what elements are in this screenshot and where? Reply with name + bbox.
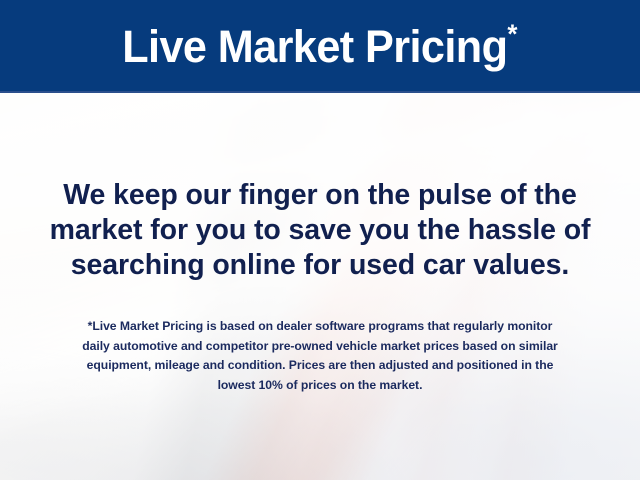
header-band: Live Market Pricing* (0, 0, 640, 93)
disclaimer-block: *Live Market Pricing is based on dealer … (0, 317, 640, 395)
disclaimer-line: daily automotive and competitor pre-owne… (0, 337, 640, 357)
page-title: Live Market Pricing* (122, 21, 517, 72)
disclaimer-line: equipment, mileage and condition. Prices… (0, 356, 640, 376)
disclaimer-line: lowest 10% of prices on the market. (0, 376, 640, 396)
live-market-pricing-banner: Live Market Pricing* We keep our finger … (0, 0, 640, 480)
headline-line: We keep our finger on the pulse of the (0, 178, 640, 213)
page-title-text: Live Market Pricing (122, 21, 507, 72)
headline-line: searching online for used car values. (0, 248, 640, 283)
headline-block: We keep our finger on the pulse of the m… (0, 178, 640, 283)
headline-line: market for you to save you the hassle of (0, 213, 640, 248)
page-title-asterisk: * (508, 19, 518, 49)
disclaimer-line: *Live Market Pricing is based on dealer … (0, 317, 640, 337)
